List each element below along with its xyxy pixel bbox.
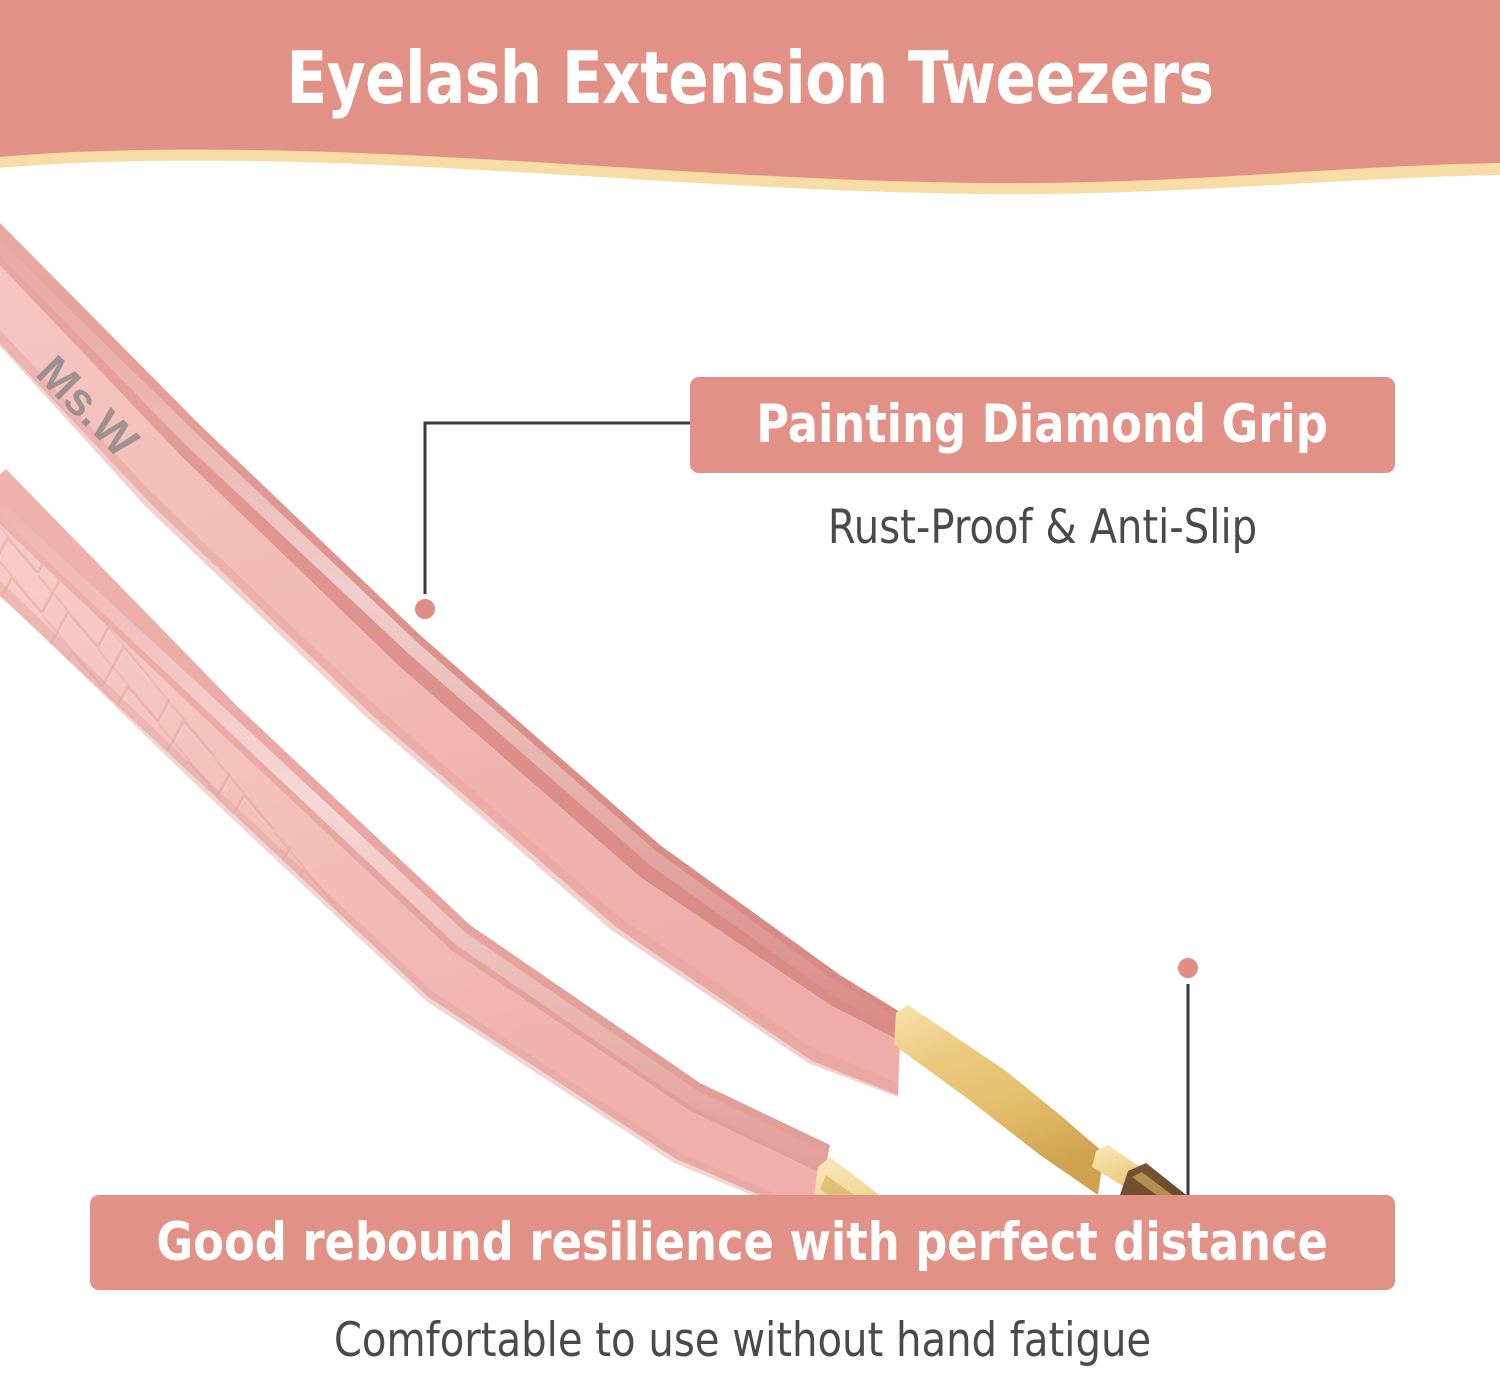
infographic-page: Eyelash Extension Tweezers [0,0,1500,1379]
callout-label-grip: Painting Diamond Grip [757,396,1329,454]
lower-arm-top-facet [0,469,830,1175]
page-title: Eyelash Extension Tweezers [60,34,1440,122]
callout-subtitle-grip: Rust-Proof & Anti-Slip [708,500,1378,556]
callout-marker-rebound[interactable] [1173,953,1203,983]
product-photo: Ms.W [0,215,1500,1215]
tweezers-illustration: Ms.W [0,215,1500,1215]
callout-box-rebound: Good rebound resilience with perfect dis… [90,1195,1395,1290]
upper-tip-gold-shank [894,1005,1104,1195]
callout-label-rebound: Good rebound resilience with perfect dis… [157,1214,1329,1272]
callout-subtitle-rebound: Comfortable to use without hand fatigue [123,1313,1363,1369]
callout-marker-grip[interactable] [410,594,440,624]
header-banner: Eyelash Extension Tweezers [0,0,1500,215]
callout-box-grip: Painting Diamond Grip [690,377,1395,473]
